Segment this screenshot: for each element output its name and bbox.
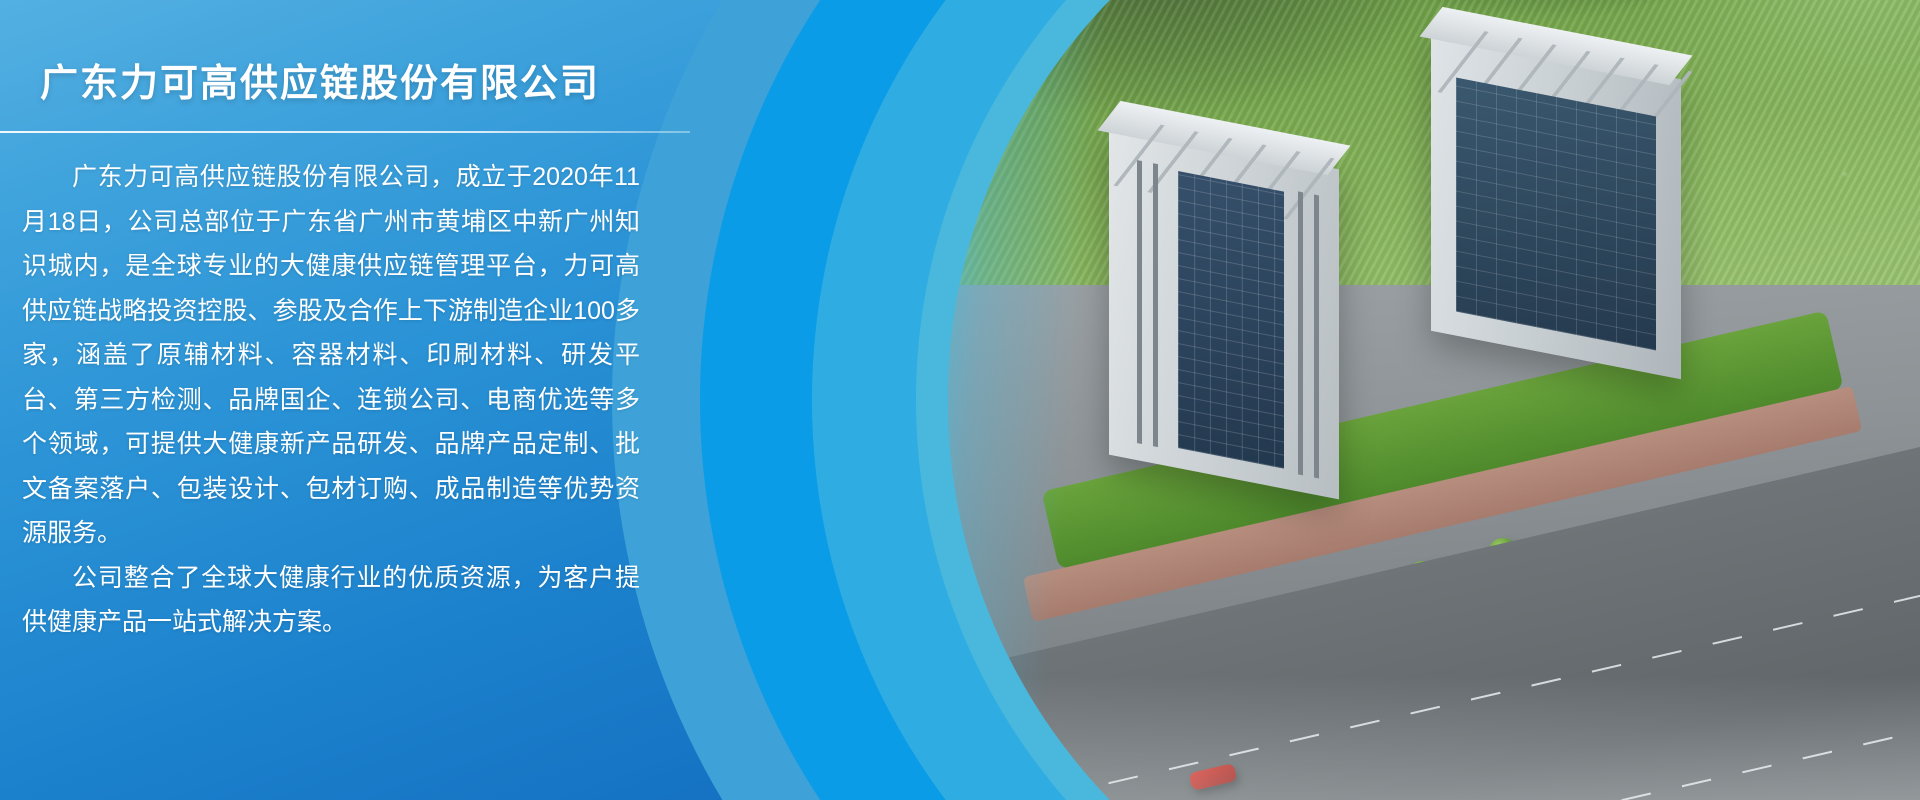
- curtain-wall-glass-rear: [1456, 78, 1656, 351]
- atmospheric-haze: [948, 676, 1920, 800]
- facade-fin: [1137, 160, 1142, 445]
- page-title: 广东力可高供应链股份有限公司: [0, 56, 700, 113]
- text-column: 广东力可高供应链股份有限公司 广东力可高供应链股份有限公司，成立于2020年11…: [0, 0, 700, 800]
- banner-stage: 广东力可高供应链股份有限公司 广东力可高供应链股份有限公司，成立于2020年11…: [0, 0, 1920, 800]
- office-building-front: [1109, 125, 1339, 500]
- office-building-rear: [1431, 31, 1681, 380]
- campus-photo: [948, 0, 1920, 800]
- facade-fin: [1314, 194, 1319, 479]
- facade-fin: [1298, 191, 1303, 476]
- facade-fin: [1153, 163, 1158, 448]
- description-paragraph-1: 广东力可高供应链股份有限公司，成立于2020年11月18日，公司总部位于广东省广…: [22, 155, 640, 556]
- curtain-wall-glass-front: [1178, 171, 1284, 469]
- company-description: 广东力可高供应链股份有限公司，成立于2020年11月18日，公司总部位于广东省广…: [0, 133, 640, 645]
- description-paragraph-2: 公司整合了全球大健康行业的优质资源，为客户提供健康产品一站式解决方案。: [22, 556, 640, 645]
- campus-photo-image: [948, 0, 1920, 800]
